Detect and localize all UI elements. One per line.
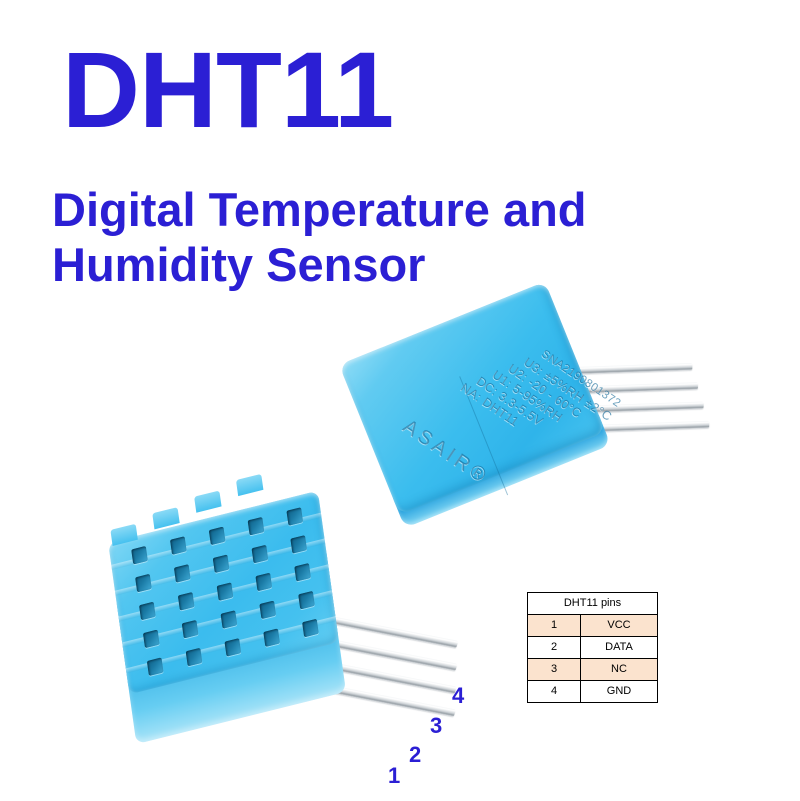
sensor-vent-hole — [221, 610, 238, 629]
sensor-vent-hole — [255, 573, 272, 592]
table-row: 4 GND — [528, 681, 658, 703]
pin-callout-3: 3 — [430, 713, 442, 739]
sensor-grill-tab — [236, 474, 263, 496]
page-title: DHT11 — [62, 36, 393, 144]
sensor-vent-hole — [174, 564, 191, 583]
sensor-bottom-rotation-group — [79, 442, 431, 801]
sensor-vent-hole — [294, 563, 311, 582]
sensor-vent-hole — [302, 619, 319, 638]
table-row: 3 NC — [528, 659, 658, 681]
pin-number-cell: 3 — [528, 659, 581, 681]
dht11-product-image: DHT11 Digital Temperature and Humidity S… — [0, 0, 800, 801]
sensor-top-pin-1 — [591, 421, 709, 432]
sensor-top-pin-4 — [574, 363, 692, 374]
sensor-vent-hole — [252, 545, 269, 564]
sensor-vent-hole — [209, 527, 226, 546]
pin-table-body: 1 VCC 2 DATA 3 NC 4 GND — [528, 615, 658, 703]
sensor-vent-hole — [290, 535, 307, 554]
sensor-vent-hole — [213, 554, 230, 573]
sensor-vent-hole — [263, 628, 280, 647]
sensor-vent-hole — [217, 582, 234, 601]
pin-number-cell: 4 — [528, 681, 581, 703]
pin-callout-4: 4 — [452, 683, 464, 709]
pin-callout-2: 2 — [409, 742, 421, 768]
dht11-sensor-grill-face — [95, 480, 415, 780]
sensor-vent-hole — [182, 620, 199, 639]
pin-function-cell: DATA — [581, 637, 658, 659]
sensor-vent-hole — [298, 591, 315, 610]
sensor-grill-tab — [194, 490, 221, 512]
pin-number-cell: 1 — [528, 615, 581, 637]
table-row: 2 DATA — [528, 637, 658, 659]
sensor-vent-hole — [135, 574, 152, 593]
pin-function-cell: NC — [581, 659, 658, 681]
pin-function-cell: GND — [581, 681, 658, 703]
sensor-vent-hole — [225, 638, 242, 657]
table-header-row: DHT11 pins — [528, 593, 658, 615]
pin-function-cell: VCC — [581, 615, 658, 637]
sensor-vent-hole — [139, 602, 156, 621]
pin-table-caption: DHT11 pins — [528, 593, 658, 615]
sensor-vent-hole — [186, 648, 203, 667]
pin-assignment-table: DHT11 pins 1 VCC 2 DATA 3 NC 4 GND — [527, 592, 658, 703]
sensor-vent-hole — [131, 546, 148, 565]
sensor-vent-hole — [143, 630, 160, 649]
sensor-vent-hole — [286, 507, 303, 526]
pin-number-cell: 2 — [528, 637, 581, 659]
table-row: 1 VCC — [528, 615, 658, 637]
sensor-vent-hole — [170, 536, 187, 555]
sensor-vent-hole — [178, 592, 195, 611]
sensor-vent-hole — [248, 517, 265, 536]
pin-callout-1: 1 — [388, 763, 400, 789]
sensor-vent-hole — [147, 657, 164, 676]
sensor-vent-hole — [259, 601, 276, 620]
